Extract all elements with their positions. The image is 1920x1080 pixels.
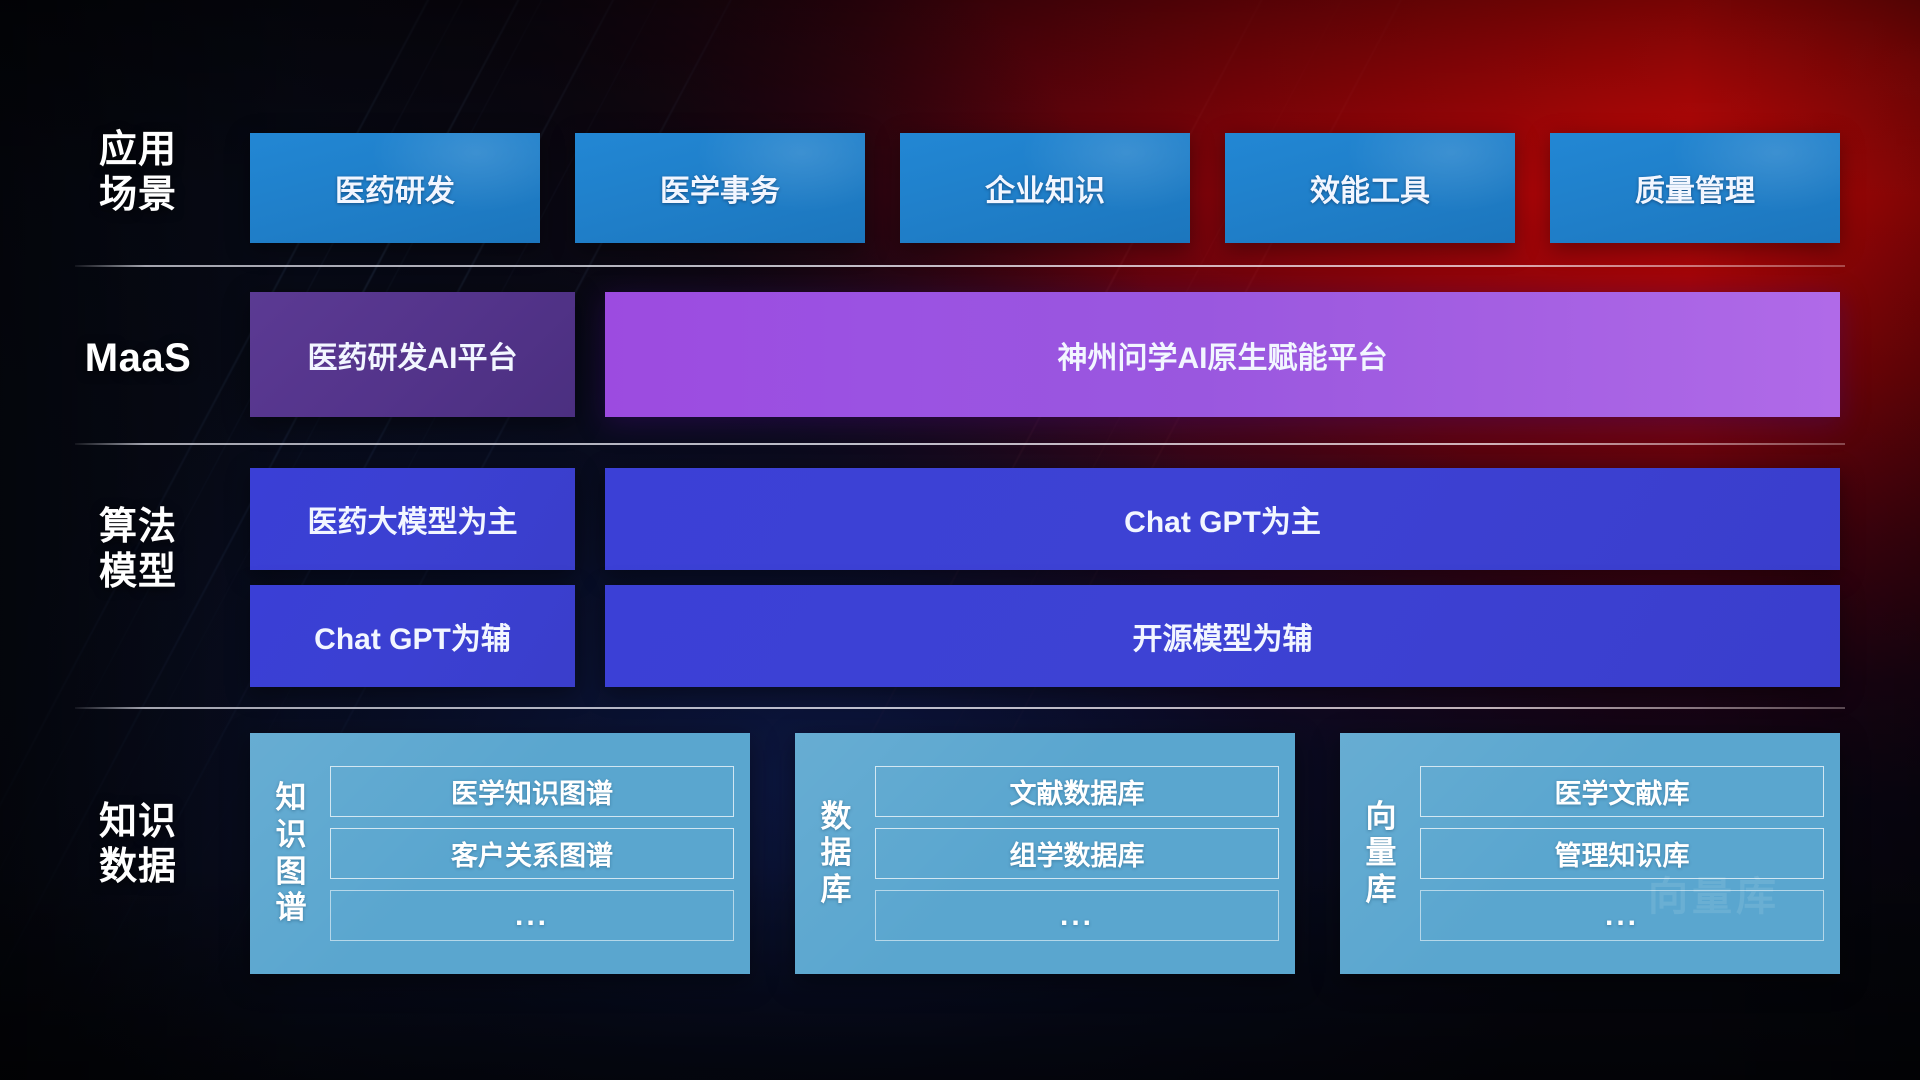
knowledge-item[interactable]: 文献数据库 [875, 766, 1279, 817]
architecture-rows: 应用 场景 医药研发 医学事务 企业知识 效能工具 质量管理 MaaS 医药研发… [0, 0, 1920, 1080]
knowledge-group-label: 数 据 库 [813, 799, 859, 909]
app-box-yixueshiwu[interactable]: 医学事务 [575, 133, 865, 243]
knowledge-group-label: 知 识 图 谱 [268, 780, 314, 926]
app-box-yiyaoyanfa[interactable]: 医药研发 [250, 133, 540, 243]
algo-box-yiyao-damoxing-zhu[interactable]: 医药大模型为主 [250, 468, 575, 570]
row-label-line: 数据 [78, 845, 198, 890]
row-label-line: 场景 [78, 173, 198, 218]
knowledge-group-label-char: 谱 [268, 890, 314, 927]
row-label-line: 应用 [78, 128, 198, 173]
algo-box-chatgpt-zhu[interactable]: Chat GPT为主 [605, 468, 1840, 570]
slide-canvas: 应用 场景 医药研发 医学事务 企业知识 效能工具 质量管理 MaaS 医药研发… [0, 0, 1920, 1080]
algo-box-label: 开源模型为辅 [1133, 614, 1313, 658]
knowledge-group-label-char: 据 [813, 835, 859, 872]
knowledge-group-label: 向 量 库 [1358, 799, 1404, 909]
knowledge-item-list: 医学文献库 管理知识库 ... [1420, 766, 1824, 941]
knowledge-item[interactable]: 管理知识库 [1420, 828, 1824, 879]
app-box-label: 质量管理 [1635, 166, 1755, 210]
knowledge-item[interactable]: 医学知识图谱 [330, 766, 734, 817]
knowledge-item[interactable]: 组学数据库 [875, 828, 1279, 879]
divider-application-maas [75, 265, 1845, 267]
row-label-algorithm: 算法 模型 [78, 505, 198, 595]
knowledge-item[interactable]: 医学文献库 [1420, 766, 1824, 817]
algo-box-kaiyuan-moxing-fu[interactable]: 开源模型为辅 [605, 585, 1840, 687]
app-box-label: 医学事务 [660, 166, 780, 210]
maas-box-shenzhou-wenxue-platform[interactable]: 神州问学AI原生赋能平台 [605, 292, 1840, 417]
knowledge-item-more[interactable]: ... [1420, 890, 1824, 941]
knowledge-group-label-char: 知 [268, 780, 314, 817]
maas-box-label: 神州问学AI原生赋能平台 [1058, 333, 1388, 377]
knowledge-group-label-char: 库 [813, 872, 859, 909]
knowledge-group-label-char: 量 [1358, 835, 1404, 872]
knowledge-group-label-char: 图 [268, 854, 314, 891]
row-label-knowledge: 知识 数据 [78, 800, 198, 890]
app-box-xiaonenggongju[interactable]: 效能工具 [1225, 133, 1515, 243]
knowledge-group-label-char: 库 [1358, 872, 1404, 909]
divider-maas-algorithm [75, 443, 1845, 445]
knowledge-item-more[interactable]: ... [330, 890, 734, 941]
algo-box-label: Chat GPT为辅 [314, 614, 511, 658]
algo-box-label: Chat GPT为主 [1124, 497, 1321, 541]
knowledge-group-label-char: 向 [1358, 799, 1404, 836]
app-box-label: 企业知识 [985, 166, 1105, 210]
knowledge-item[interactable]: 客户关系图谱 [330, 828, 734, 879]
knowledge-group-label-char: 识 [268, 817, 314, 854]
app-box-qiyezhishi[interactable]: 企业知识 [900, 133, 1190, 243]
knowledge-item-more[interactable]: ... [875, 890, 1279, 941]
maas-box-label: 医药研发AI平台 [308, 333, 518, 377]
knowledge-group-zhishi-tupu[interactable]: 知 识 图 谱 医学知识图谱 客户关系图谱 ... [250, 733, 750, 974]
app-box-label: 医药研发 [335, 166, 455, 210]
row-label-line: 算法 [78, 505, 198, 550]
knowledge-group-label-char: 数 [813, 799, 859, 836]
maas-box-yiyaoyanfa-ai-platform[interactable]: 医药研发AI平台 [250, 292, 575, 417]
algo-box-chatgpt-fu[interactable]: Chat GPT为辅 [250, 585, 575, 687]
knowledge-item-list: 文献数据库 组学数据库 ... [875, 766, 1279, 941]
row-label-line: MaaS [78, 335, 198, 382]
row-label-line: 模型 [78, 550, 198, 595]
knowledge-item-list: 医学知识图谱 客户关系图谱 ... [330, 766, 734, 941]
knowledge-group-xiangliangku[interactable]: 向量库 向 量 库 医学文献库 管理知识库 ... [1340, 733, 1840, 974]
algo-box-label: 医药大模型为主 [308, 497, 518, 541]
app-box-label: 效能工具 [1310, 166, 1430, 210]
knowledge-group-shujuku[interactable]: 数 据 库 文献数据库 组学数据库 ... [795, 733, 1295, 974]
divider-algorithm-knowledge [75, 707, 1845, 709]
row-label-maas: MaaS [78, 335, 198, 382]
row-label-line: 知识 [78, 800, 198, 845]
row-label-application: 应用 场景 [78, 128, 198, 218]
app-box-zhilianguanli[interactable]: 质量管理 [1550, 133, 1840, 243]
